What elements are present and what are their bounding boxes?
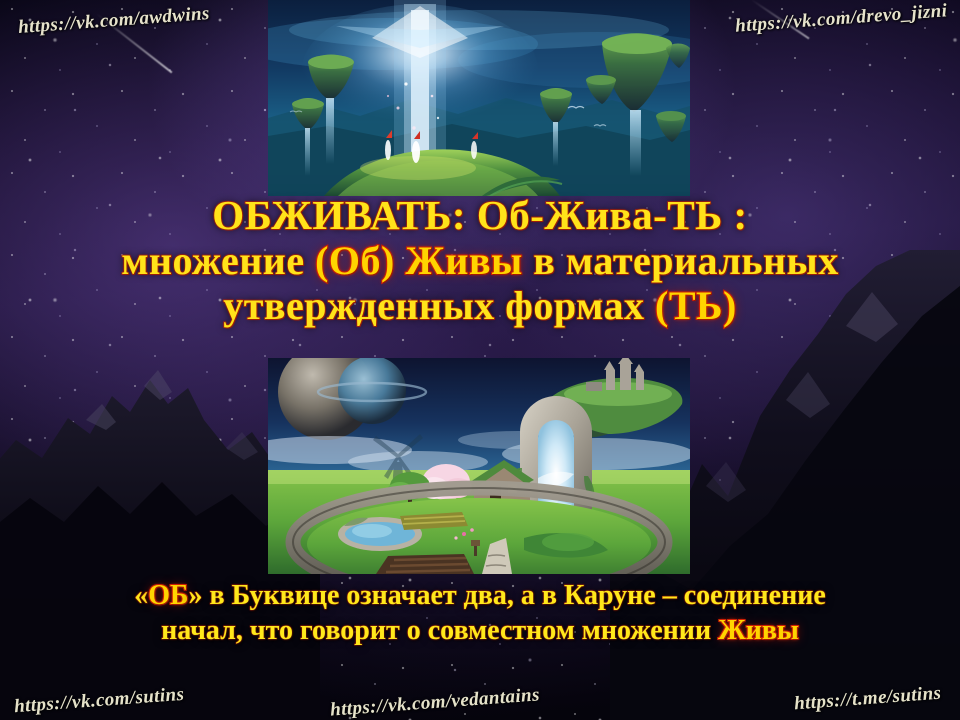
slide-canvas: ОБЖИВАТЬ: Об-Жива-ТЬ : множение (Об) Жив…: [0, 0, 960, 720]
image-top-fantasy-light-pillar: [268, 0, 690, 196]
image-bottom-fantasy-portal-garden: [268, 358, 690, 574]
